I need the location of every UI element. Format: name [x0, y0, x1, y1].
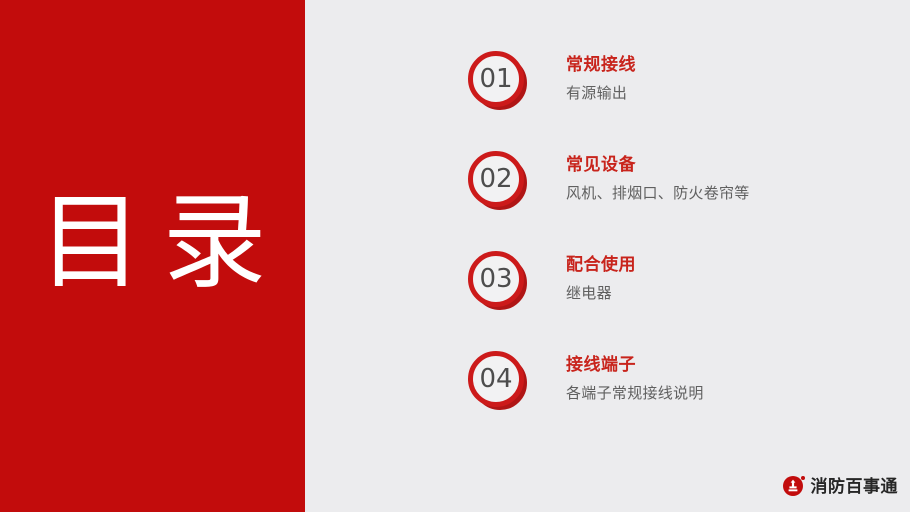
- toc-item-subtitle: 继电器: [566, 283, 866, 305]
- toc-item-title: 常见设备: [566, 152, 866, 178]
- toc-item[interactable]: 04 接线端子 各端子常规接线说明: [455, 348, 875, 426]
- table-of-contents: 01 常规接线 有源输出 02 常见设备 风机、排烟口、防火卷帘等 03: [455, 0, 910, 512]
- toc-item-title: 常规接线: [566, 52, 866, 78]
- badge-number: 02: [468, 151, 524, 207]
- toc-item[interactable]: 02 常见设备 风机、排烟口、防火卷帘等: [455, 148, 875, 226]
- number-badge: 02: [467, 150, 531, 214]
- toc-item-title: 配合使用: [566, 252, 866, 278]
- logo-text: 消防百事通: [811, 477, 899, 497]
- number-badge: 04: [467, 350, 531, 414]
- logo-figure-icon: [783, 476, 803, 496]
- number-badge: 03: [467, 250, 531, 314]
- brand-logo: 消防百事通: [783, 476, 899, 498]
- left-red-panel: 目录: [0, 0, 305, 512]
- presentation-slide: 目录 01 常规接线 有源输出 02 常见设备 风机、排烟口、防火卷帘等: [0, 0, 910, 512]
- toc-item[interactable]: 03 配合使用 继电器: [455, 248, 875, 326]
- page-title: 目录: [0, 186, 305, 298]
- toc-item-title: 接线端子: [566, 352, 866, 378]
- toc-item-subtitle: 风机、排烟口、防火卷帘等: [566, 183, 866, 205]
- fire-safety-badge-icon: [783, 476, 805, 498]
- badge-number: 03: [468, 251, 524, 307]
- number-badge: 01: [467, 50, 531, 114]
- toc-item[interactable]: 01 常规接线 有源输出: [455, 48, 875, 126]
- logo-registered-dot: [801, 476, 805, 480]
- toc-item-text: 常见设备 风机、排烟口、防火卷帘等: [566, 152, 866, 205]
- badge-number: 04: [468, 351, 524, 407]
- toc-item-text: 配合使用 继电器: [566, 252, 866, 305]
- toc-item-text: 接线端子 各端子常规接线说明: [566, 352, 866, 405]
- toc-item-subtitle: 有源输出: [566, 83, 866, 105]
- toc-item-subtitle: 各端子常规接线说明: [566, 383, 866, 405]
- badge-number: 01: [468, 51, 524, 107]
- toc-item-text: 常规接线 有源输出: [566, 52, 866, 105]
